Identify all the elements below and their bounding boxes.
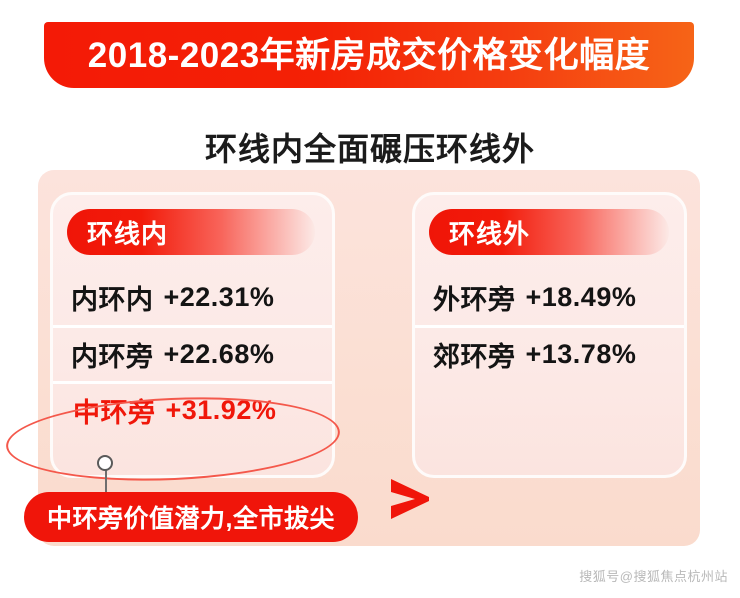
watermark: 搜狐号@搜狐焦点杭州站 — [579, 566, 728, 585]
row-label: 内环旁 — [71, 335, 154, 374]
callout-text: 中环旁价值潜力,全市拔尖 — [47, 499, 335, 535]
callout-connector-dot — [97, 455, 113, 471]
row-label: 内环内 — [71, 278, 154, 317]
page-title: 2018-2023年新房成交价格变化幅度 — [88, 38, 650, 73]
row-label: 中环旁 — [73, 391, 156, 430]
row-label: 外环旁 — [433, 278, 516, 317]
row-value: +31.92% — [166, 395, 277, 426]
data-row: 郊环旁 +13.78% — [415, 325, 684, 381]
data-row-highlighted: 中环旁 +31.92% — [53, 381, 332, 437]
page-subtitle: 环线内全面碾压环线外 — [0, 124, 740, 170]
group-card-inner-ring: 环线内 内环内 +22.31% 内环旁 +22.68% 中环旁 +31.92% — [50, 192, 335, 478]
row-value: +22.31% — [164, 282, 275, 313]
group-card-outer-ring: 环线外 外环旁 +18.49% 郊环旁 +13.78% — [412, 192, 687, 478]
group-label: 环线内 — [87, 214, 168, 251]
row-value: +18.49% — [526, 282, 637, 313]
row-value: +13.78% — [526, 339, 637, 370]
data-row: 内环旁 +22.68% — [53, 325, 332, 381]
data-row-list-inner-ring: 内环内 +22.31% 内环旁 +22.68% 中环旁 +31.92% — [53, 269, 332, 437]
greater-than-icon — [388, 475, 432, 523]
row-value: +22.68% — [164, 339, 275, 370]
comparison-panel: 环线内 内环内 +22.31% 内环旁 +22.68% 中环旁 +31.92% … — [38, 170, 700, 546]
callout-badge: 中环旁价值潜力,全市拔尖 — [24, 492, 358, 542]
data-row: 外环旁 +18.49% — [415, 269, 684, 325]
row-label: 郊环旁 — [433, 335, 516, 374]
group-header-inner-ring: 环线内 — [67, 209, 315, 255]
data-row-list-outer-ring: 外环旁 +18.49% 郊环旁 +13.78% — [415, 269, 684, 381]
group-header-outer-ring: 环线外 — [429, 209, 669, 255]
group-label: 环线外 — [449, 214, 530, 251]
data-row: 内环内 +22.31% — [53, 269, 332, 325]
title-banner: 2018-2023年新房成交价格变化幅度 — [44, 22, 694, 88]
